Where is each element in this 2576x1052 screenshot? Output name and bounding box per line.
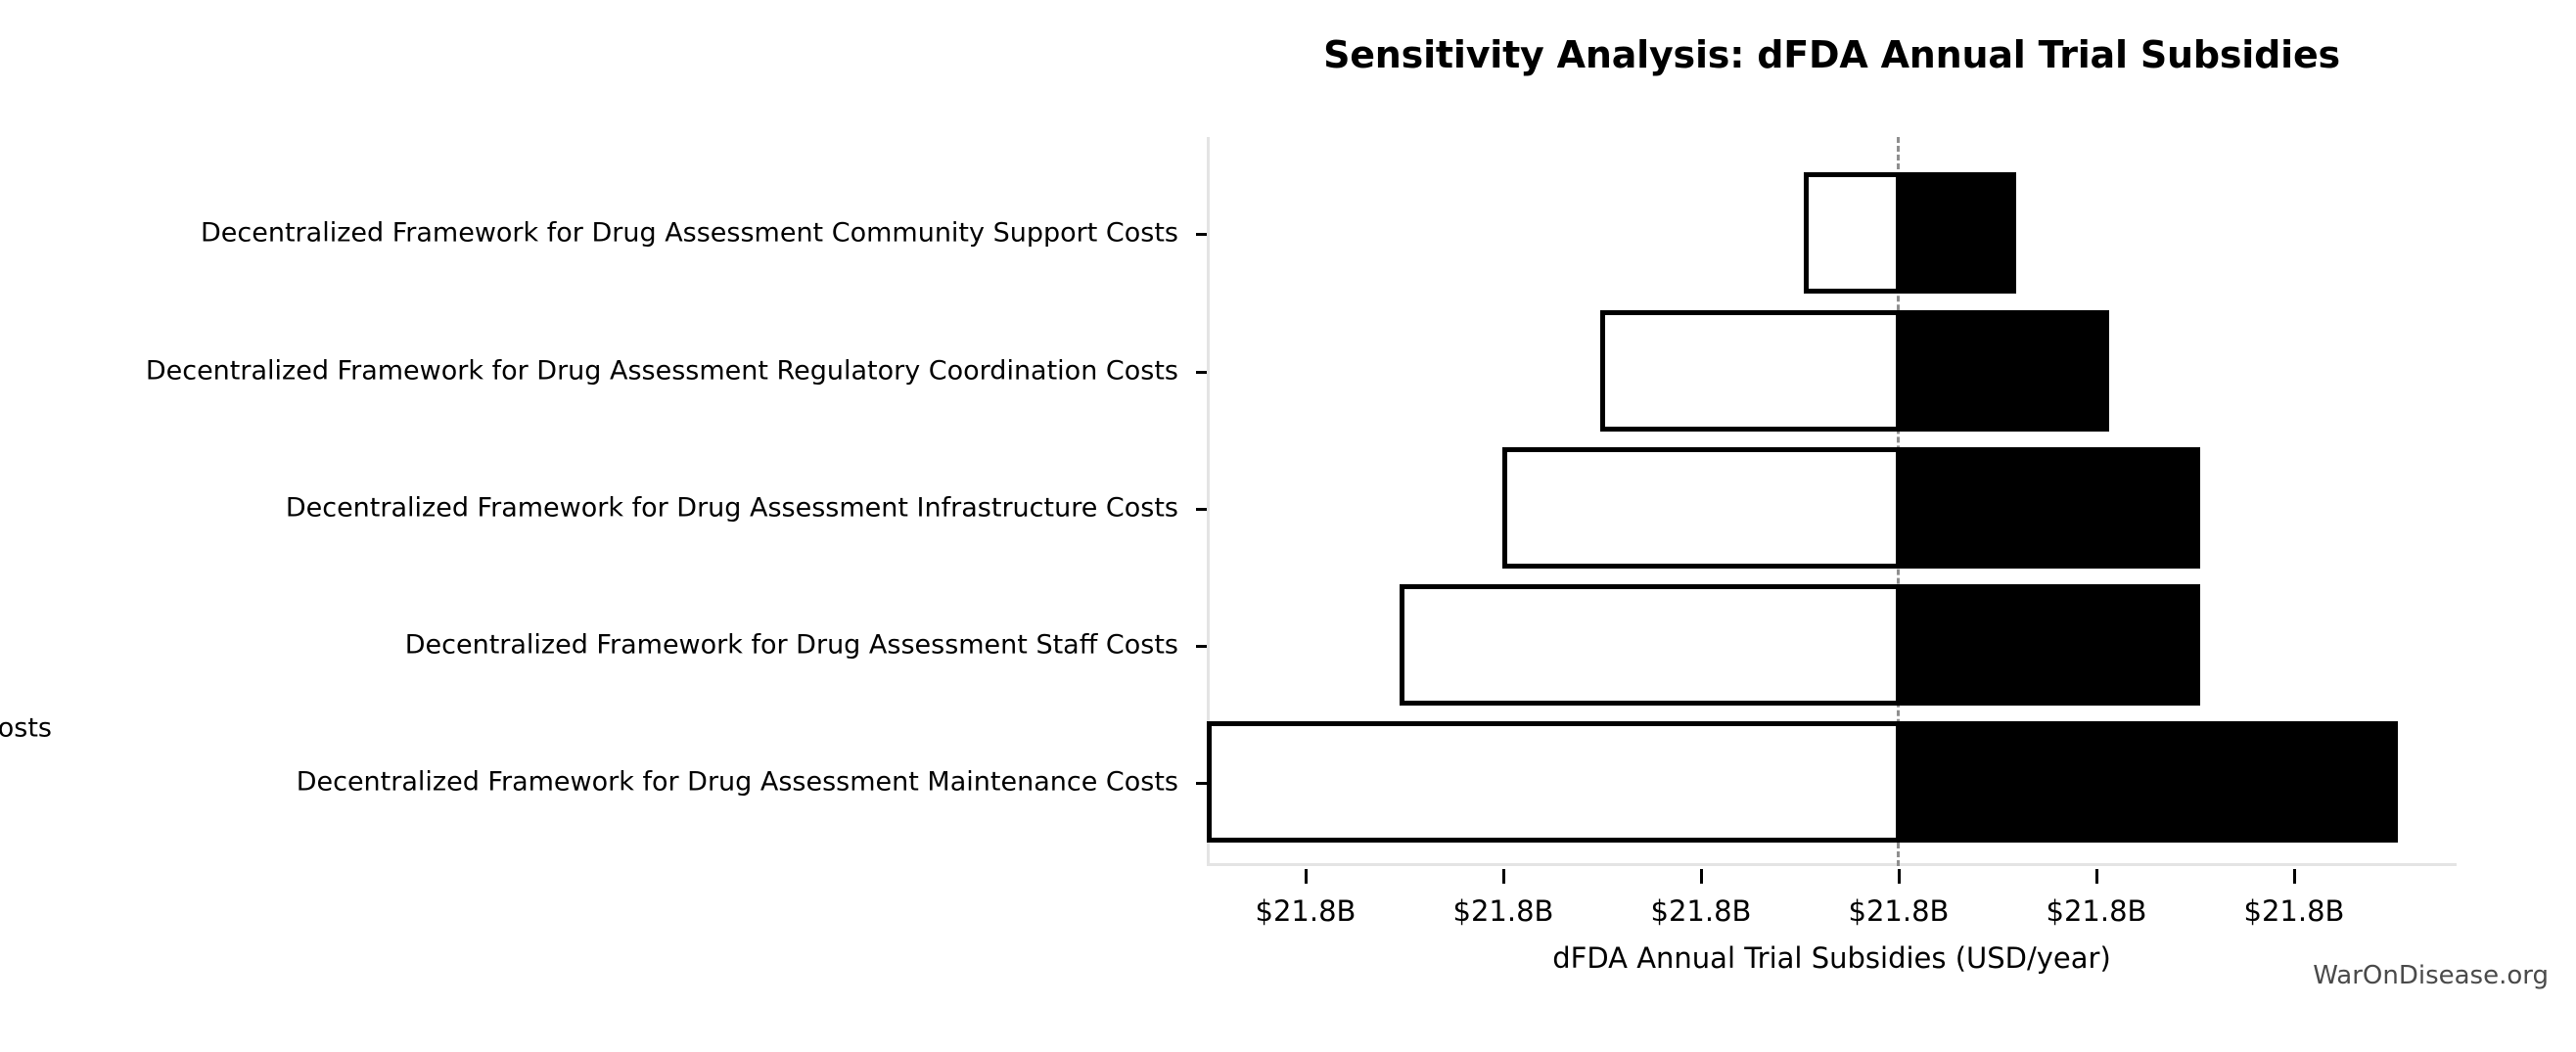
bar-row-staff	[1207, 584, 2457, 706]
y-axis-label-4: Decentralized Framework for Drug Assessm…	[23, 767, 1178, 798]
y-axis-label-community-support: Decentralized Framework for Drug Assessm…	[0, 713, 52, 744]
bar-high-infrastructure[interactable]	[1897, 447, 2200, 569]
y-axis-tick-0	[1196, 233, 1207, 236]
y-axis-tick-3	[1196, 645, 1207, 648]
bar-row-community-support	[1207, 172, 2457, 294]
bar-low-infrastructure[interactable]	[1502, 447, 1901, 569]
y-axis-tick-2	[1196, 508, 1207, 511]
x-axis-title: dFDA Annual Trial Subsidies (USD/year)	[1207, 941, 2457, 975]
plot-area	[1207, 137, 2457, 866]
watermark: WarOnDisease.org	[2313, 961, 2549, 990]
axis-spine-bottom	[1207, 863, 2457, 866]
x-axis-tick-3	[1898, 869, 1901, 884]
bar-low-regulatory-coordination[interactable]	[1600, 310, 1901, 432]
chart-title: Sensitivity Analysis: dFDA Annual Trial …	[1207, 33, 2457, 76]
y-axis-label-1: Decentralized Framework for Drug Assessm…	[23, 356, 1178, 387]
y-axis-tick-4	[1196, 782, 1207, 785]
bar-high-staff[interactable]	[1897, 584, 2200, 706]
x-axis-tick-5	[2293, 869, 2296, 884]
bar-low-maintenance[interactable]	[1207, 721, 1901, 843]
x-axis-tick-label-5: $21.8B	[2196, 894, 2392, 928]
x-axis-tick-label-3: $21.8B	[1801, 894, 1997, 928]
bar-row-maintenance	[1207, 721, 2457, 843]
bar-row-infrastructure	[1207, 447, 2457, 569]
x-axis-tick-label-1: $21.8B	[1405, 894, 1601, 928]
y-axis-tick-1	[1196, 371, 1207, 374]
bar-low-community-support[interactable]	[1804, 172, 1901, 294]
x-axis-tick-label-0: $21.8B	[1208, 894, 1403, 928]
bar-low-staff[interactable]	[1400, 584, 1901, 706]
bar-high-regulatory-coordination[interactable]	[1897, 310, 2109, 432]
bar-high-maintenance[interactable]	[1897, 721, 2398, 843]
x-axis-tick-1	[1502, 869, 1505, 884]
x-axis-tick-2	[1700, 869, 1703, 884]
x-axis-tick-4	[2095, 869, 2098, 884]
y-axis-label-3: Decentralized Framework for Drug Assessm…	[23, 630, 1178, 661]
y-axis-label-0: Decentralized Framework for Drug Assessm…	[23, 218, 1178, 249]
x-axis-tick-label-2: $21.8B	[1603, 894, 1799, 928]
y-axis-label-2: Decentralized Framework for Drug Assessm…	[23, 493, 1178, 524]
x-axis-tick-label-4: $21.8B	[1999, 894, 2194, 928]
bar-high-community-support[interactable]	[1897, 172, 2016, 294]
x-axis-tick-0	[1305, 869, 1308, 884]
bar-row-regulatory-coordination	[1207, 310, 2457, 432]
